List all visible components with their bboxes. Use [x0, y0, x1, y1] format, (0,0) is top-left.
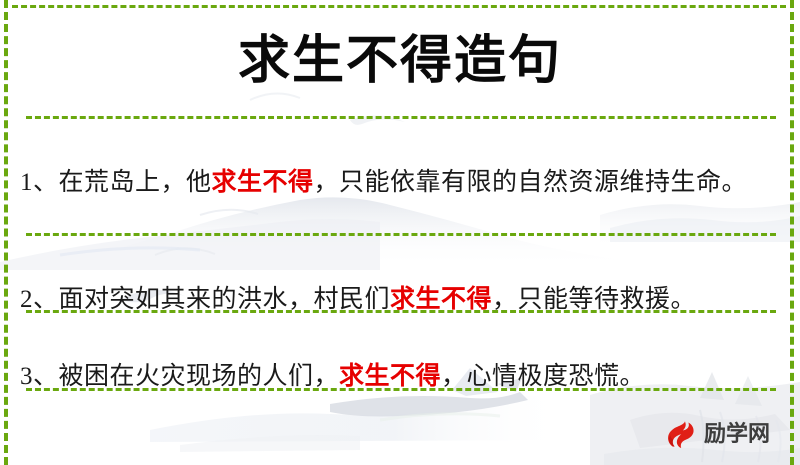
- frame-top-dashed-border: [12, 5, 786, 8]
- frame-right-dashed-border: [790, 0, 794, 465]
- separator-after-sentence-2: [26, 310, 776, 313]
- sentence-1-number: 1、: [20, 169, 59, 196]
- sentence-list: 1、在荒岛上，他求生不得，只能依靠有限的自然资源维持生命。 2、面对突如其来的洪…: [20, 116, 776, 388]
- sentence-item-2: 2、面对突如其来的洪水，村民们求生不得，只能等待救援。: [20, 280, 776, 319]
- sentence-3-highlight-term: 求生不得: [339, 363, 441, 390]
- separator-below-title: [26, 116, 776, 119]
- sentence-1-highlight-term: 求生不得: [212, 169, 314, 196]
- sentence-3-number: 3、: [20, 363, 59, 390]
- sentence-1-suffix: ，只能依靠有限的自然资源维持生命。: [314, 169, 748, 196]
- sentence-2-prefix: 面对突如其来的洪水，村民们: [59, 286, 391, 313]
- sentence-3-prefix: 被困在火灾现场的人们，: [59, 363, 340, 390]
- sentence-worksheet-page: 求生不得造句 1、在荒岛上，他求生不得，只能依靠有限的自然资源维持生命。 2、面…: [0, 0, 800, 465]
- sentence-2-number: 2、: [20, 286, 59, 313]
- sentence-2-suffix: ，只能等待救援。: [492, 286, 696, 313]
- page-title: 求生不得造句: [0, 22, 800, 100]
- site-watermark-text: 励学网: [704, 424, 770, 446]
- sentence-3-suffix: ，心情极度恐慌。: [441, 363, 645, 390]
- sentence-2-highlight-term: 求生不得: [390, 286, 492, 313]
- separator-after-sentence-1: [26, 233, 776, 236]
- frame-left-dashed-border: [4, 0, 8, 465]
- sentence-1-prefix: 在荒岛上，他: [59, 169, 212, 196]
- separator-after-sentence-3: [26, 388, 776, 391]
- flame-swirl-logo-icon: [662, 417, 698, 453]
- page-title-text: 求生不得造句: [238, 35, 562, 87]
- sentence-item-1: 1、在荒岛上，他求生不得，只能依靠有限的自然资源维持生命。: [20, 163, 776, 202]
- site-watermark-logo: 励学网: [662, 414, 780, 456]
